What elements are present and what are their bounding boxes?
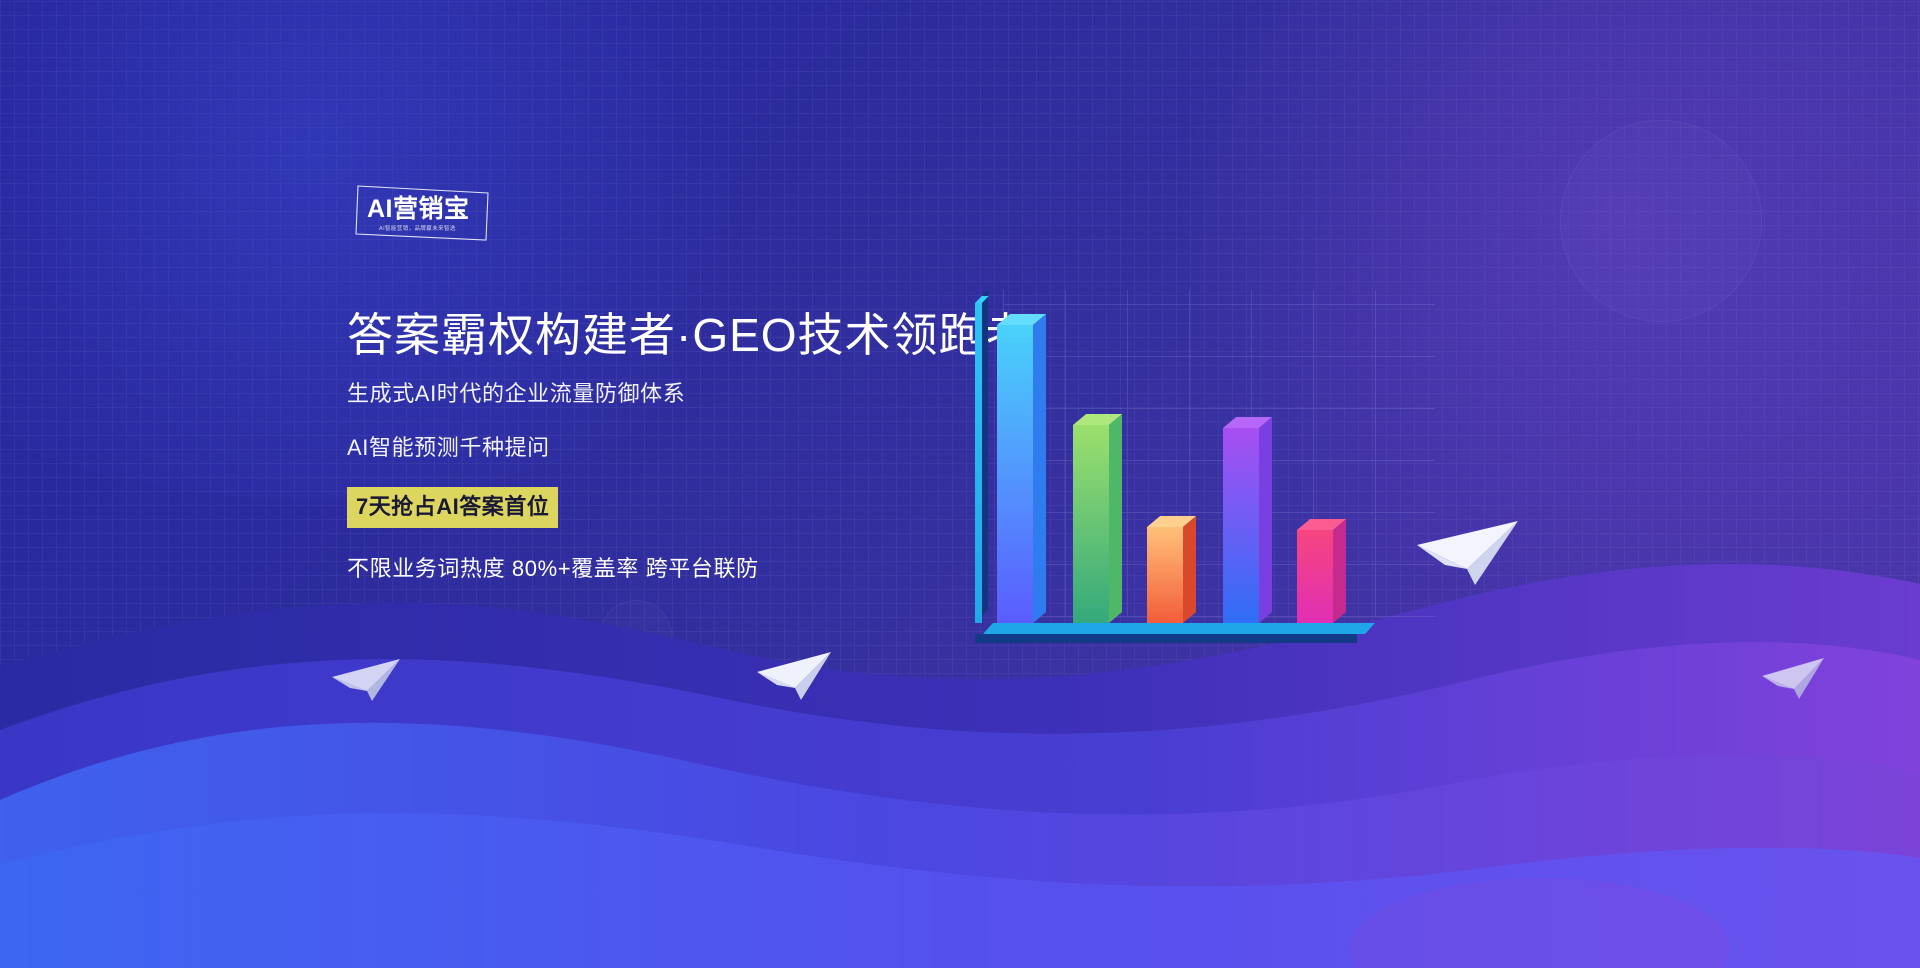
chart-bar-1-side: [1033, 314, 1046, 623]
chart-bar-3-side: [1183, 516, 1196, 623]
chart-bar-4-face: [1223, 428, 1259, 623]
chart-bar-3-face: [1147, 527, 1183, 623]
chart-bar-3: [1147, 527, 1183, 623]
chart-bar-5-face: [1297, 530, 1333, 623]
chart-bar-2: [1073, 425, 1109, 623]
chart-floor-front: [975, 634, 1357, 643]
chart-bar-4-side: [1259, 417, 1272, 623]
chart-floor-top: [983, 623, 1375, 634]
logo-tagline: AI智能营销，品牌赢未来智选: [379, 225, 483, 233]
chart-bar-5: [1297, 530, 1333, 623]
y-axis-side: [982, 289, 988, 616]
page-title: 答案霸权构建者·GEO技术领跑者: [347, 305, 1067, 365]
y-axis-face: [975, 303, 982, 623]
highlight-badge: 7天抢占AI答案首位: [347, 487, 558, 528]
hero-subline-1: 生成式AI时代的企业流量防御体系: [347, 379, 1067, 409]
chart-floor: [975, 623, 1365, 643]
paper-plane-icon: [755, 648, 833, 702]
chart-gridlines: [1003, 290, 1435, 617]
hero-subline-2: AI智能预测千种提问: [347, 433, 1067, 463]
paper-plane-icon: [330, 655, 402, 703]
paper-plane-icon: [1760, 655, 1826, 701]
chart-y-axis: [975, 303, 987, 623]
chart-bar-1-face: [997, 325, 1033, 623]
chart-bar-2-side: [1109, 414, 1122, 623]
hero-banner: AI营销宝 AI智能营销，品牌赢未来智选 答案霸权构建者·GEO技术领跑者 生成…: [0, 0, 1920, 968]
paper-plane-4: [1760, 655, 1826, 701]
hero-features: 不限业务词热度 80%+覆盖率 跨平台联防: [347, 554, 1067, 584]
paper-plane-2: [755, 648, 833, 702]
wave-background: [0, 548, 1920, 968]
chart-bar-5-side: [1333, 519, 1346, 623]
highlight-wrapper: 7天抢占AI答案首位: [347, 487, 1067, 528]
chart-bar-4: [1223, 428, 1259, 623]
chart-bar-1: [997, 325, 1033, 623]
paper-plane-1: [1415, 515, 1520, 587]
brand-logo[interactable]: AI营销宝 AI智能营销，品牌赢未来智选: [355, 182, 490, 244]
paper-plane-3: [330, 655, 402, 703]
paper-plane-icon: [1415, 515, 1520, 587]
logo-wordmark: AI营销宝: [367, 194, 479, 224]
decor-circle-3: [1560, 120, 1762, 322]
hero-copy: 答案霸权构建者·GEO技术领跑者 生成式AI时代的企业流量防御体系 AI智能预测…: [347, 305, 1067, 584]
bar-chart: [975, 290, 1435, 665]
chart-bar-2-face: [1073, 425, 1109, 623]
